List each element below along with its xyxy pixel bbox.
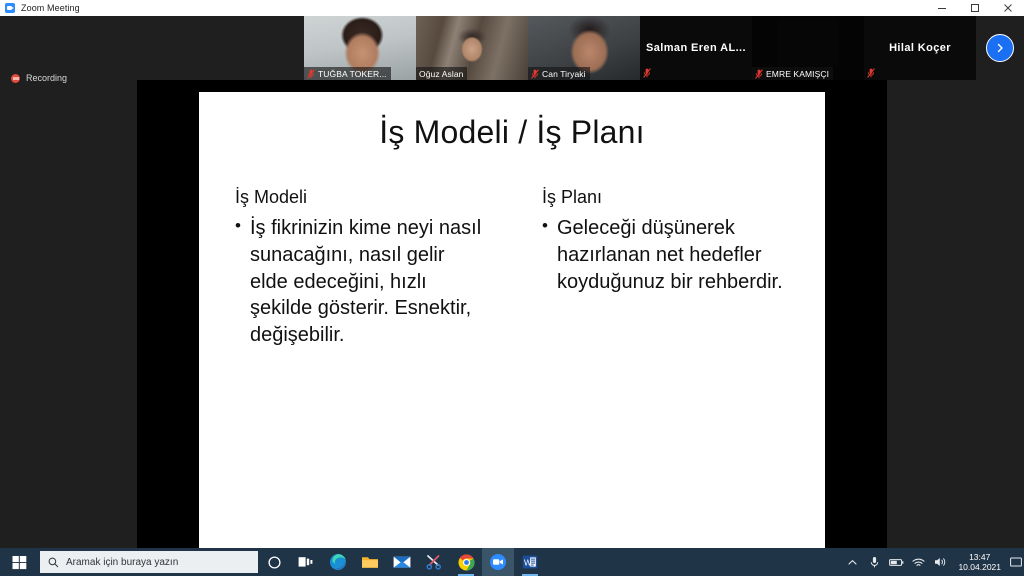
participant-name: TUĞBA TOKER... — [318, 69, 387, 79]
slide-column-is-modeli: İş Modeli • İş fikrinizin kime neyi nası… — [199, 187, 518, 349]
window-controls — [925, 0, 1024, 16]
participant-tile[interactable]: Salman Eren AL... — [640, 16, 752, 80]
participant-name-bar: Can Tiryaki — [528, 67, 590, 80]
bullet-marker: • — [542, 215, 548, 295]
folder-icon — [361, 555, 379, 570]
maximize-button[interactable] — [958, 0, 991, 16]
muted-microphone-icon — [307, 69, 315, 79]
envelope-icon — [393, 555, 411, 569]
speaker-glyph-icon — [934, 556, 947, 568]
muted-microphone-icon — [867, 68, 875, 78]
participant-name-bar — [640, 66, 655, 79]
battery-glyph-icon — [889, 558, 904, 567]
participant-name: EMRE KAMIŞÇI — [766, 69, 829, 79]
slide-columns: İş Modeli • İş fikrinizin kime neyi nası… — [199, 187, 825, 349]
chevron-right-icon — [994, 42, 1006, 54]
svg-text:W: W — [524, 559, 532, 568]
shared-screen-area: İş Modeli / İş Planı İş Modeli • İş fikr… — [137, 80, 887, 548]
system-tray: 13:47 10.04.2021 — [841, 548, 1024, 576]
participant-name-bar — [864, 66, 879, 79]
clock[interactable]: 13:47 10.04.2021 — [951, 548, 1008, 576]
word-logo-icon: W — [522, 554, 538, 570]
slide-column-is-plani: İş Planı • Geleceği düşünerek hazırlanan… — [518, 187, 825, 349]
scissors-icon — [425, 554, 443, 570]
participant-filmstrip: TUĞBA TOKER... Oğuz Aslan Can Tiryaki — [0, 16, 1024, 80]
wifi-glyph-icon — [912, 557, 925, 568]
participant-name-bar: Oğuz Aslan — [416, 67, 467, 80]
action-center-icon[interactable] — [1008, 548, 1024, 576]
bullet-item: • İş fikrinizin kime neyi nasıl sunacağı… — [235, 215, 510, 349]
chrome-logo-icon — [458, 554, 475, 571]
zoom-logo-icon — [489, 553, 507, 571]
word-icon[interactable]: W — [514, 548, 546, 576]
windows-logo-icon — [12, 555, 27, 570]
task-view-icon[interactable] — [290, 548, 322, 576]
chevron-up-icon — [847, 557, 858, 568]
window-title: Zoom Meeting — [21, 3, 80, 13]
cortana-circle-icon — [267, 555, 282, 570]
column-heading: İş Modeli — [235, 187, 510, 208]
record-dot-icon — [11, 74, 20, 83]
start-button[interactable] — [0, 548, 38, 576]
clock-time: 13:47 — [969, 552, 990, 562]
muted-microphone-icon — [531, 69, 539, 79]
bullet-text: İş fikrinizin kime neyi nasıl sunacağını… — [250, 215, 482, 349]
participant-name: Salman Eren AL... — [640, 16, 752, 80]
participant-name: Hilal Koçer — [864, 16, 976, 80]
close-button[interactable] — [991, 0, 1024, 16]
window-title-bar: Zoom Meeting — [0, 0, 1024, 16]
bullet-marker: • — [235, 215, 241, 349]
edge-logo-icon — [329, 553, 347, 571]
muted-microphone-icon — [755, 69, 763, 79]
mail-icon[interactable] — [386, 548, 418, 576]
edge-icon[interactable] — [322, 548, 354, 576]
snipping-tool-icon[interactable] — [418, 548, 450, 576]
file-explorer-icon[interactable] — [354, 548, 386, 576]
bullet-text: Geleceği düşünerek hazırlanan net hedefl… — [557, 215, 809, 295]
participant-name-bar: EMRE KAMIŞÇI — [752, 67, 833, 80]
participant-name: Can Tiryaki — [542, 69, 586, 79]
recording-indicator[interactable]: Recording — [11, 73, 67, 83]
zoom-icon[interactable] — [482, 548, 514, 576]
wifi-icon[interactable] — [907, 548, 929, 576]
bullet-item: • Geleceği düşünerek hazırlanan net hede… — [542, 215, 817, 295]
participant-tile-active-speaker[interactable]: Oğuz Aslan — [416, 16, 528, 80]
minimize-button[interactable] — [925, 0, 958, 16]
search-placeholder: Aramak için buraya yazın — [66, 557, 178, 568]
column-heading: İş Planı — [542, 187, 817, 208]
task-view-glyph-icon — [298, 555, 314, 569]
zoom-camera-icon — [5, 3, 15, 13]
participant-tile[interactable]: TUĞBA TOKER... — [304, 16, 416, 80]
chrome-icon[interactable] — [450, 548, 482, 576]
zoom-meeting-window: TUĞBA TOKER... Oğuz Aslan Can Tiryaki — [0, 16, 1024, 548]
microphone-icon[interactable] — [863, 548, 885, 576]
search-input[interactable]: Aramak için buraya yazın — [40, 551, 258, 573]
presentation-slide: İş Modeli / İş Planı İş Modeli • İş fikr… — [199, 92, 825, 548]
slide-title: İş Modeli / İş Planı — [199, 114, 825, 151]
microphone-glyph-icon — [869, 556, 880, 569]
show-hidden-icons-icon[interactable] — [841, 548, 863, 576]
participant-tile[interactable]: Hilal Koçer — [864, 16, 976, 80]
recording-label: Recording — [26, 73, 67, 83]
participant-name: Oğuz Aslan — [419, 69, 463, 79]
clock-date: 10.04.2021 — [958, 562, 1001, 572]
muted-microphone-icon — [643, 68, 651, 78]
action-center-glyph-icon — [1010, 557, 1022, 568]
participant-tile[interactable]: EMRE KAMIŞÇI — [752, 16, 864, 80]
search-icon — [48, 557, 59, 568]
cortana-icon[interactable] — [258, 548, 290, 576]
participant-tile[interactable]: Can Tiryaki — [528, 16, 640, 80]
next-participants-page-button[interactable] — [986, 34, 1014, 62]
participant-name-bar: TUĞBA TOKER... — [304, 67, 391, 80]
volume-icon[interactable] — [929, 548, 951, 576]
windows-taskbar: Aramak için buraya yazın — [0, 548, 1024, 576]
battery-icon[interactable] — [885, 548, 907, 576]
